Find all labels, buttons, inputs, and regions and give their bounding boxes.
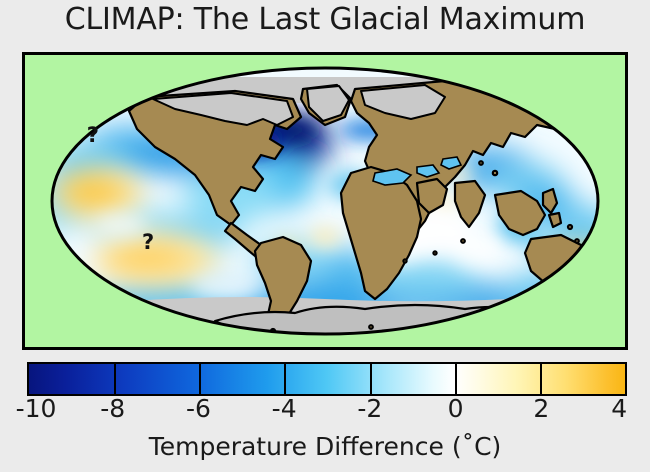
page-title: CLIMAP: The Last Glacial Maximum — [0, 2, 650, 37]
colorbar-tick-label: -8 — [100, 396, 125, 421]
sst-anomaly-field — [25, 68, 625, 338]
world-map-mollweide — [25, 55, 625, 347]
colorbar[interactable] — [27, 362, 627, 396]
colorbar-axis-title: Temperature Difference (˚C) — [0, 432, 650, 461]
colorbar-tick — [199, 364, 201, 394]
colorbar-tick — [114, 364, 116, 394]
colorbar-tick — [370, 364, 372, 394]
colorbar-tick-label: 0 — [448, 396, 464, 421]
colorbar-tick — [284, 364, 286, 394]
colorbar-tick — [540, 364, 542, 394]
colorbar-tick-label: -4 — [272, 396, 297, 421]
colorbar-tick-label: -6 — [186, 396, 211, 421]
colorbar-tick-labels: -10 -8 -6 -4 -2 0 2 4 — [27, 396, 627, 426]
colorbar-tick-label: 2 — [533, 396, 549, 421]
colorbar-tick-label: -10 — [16, 396, 57, 421]
colorbar-tick-label: 4 — [611, 396, 627, 421]
colorbar-gradient — [27, 362, 627, 396]
colorbar-tick — [455, 364, 457, 394]
map-panel[interactable]: ? ? — [22, 52, 628, 350]
colorbar-tick-label: -2 — [357, 396, 382, 421]
